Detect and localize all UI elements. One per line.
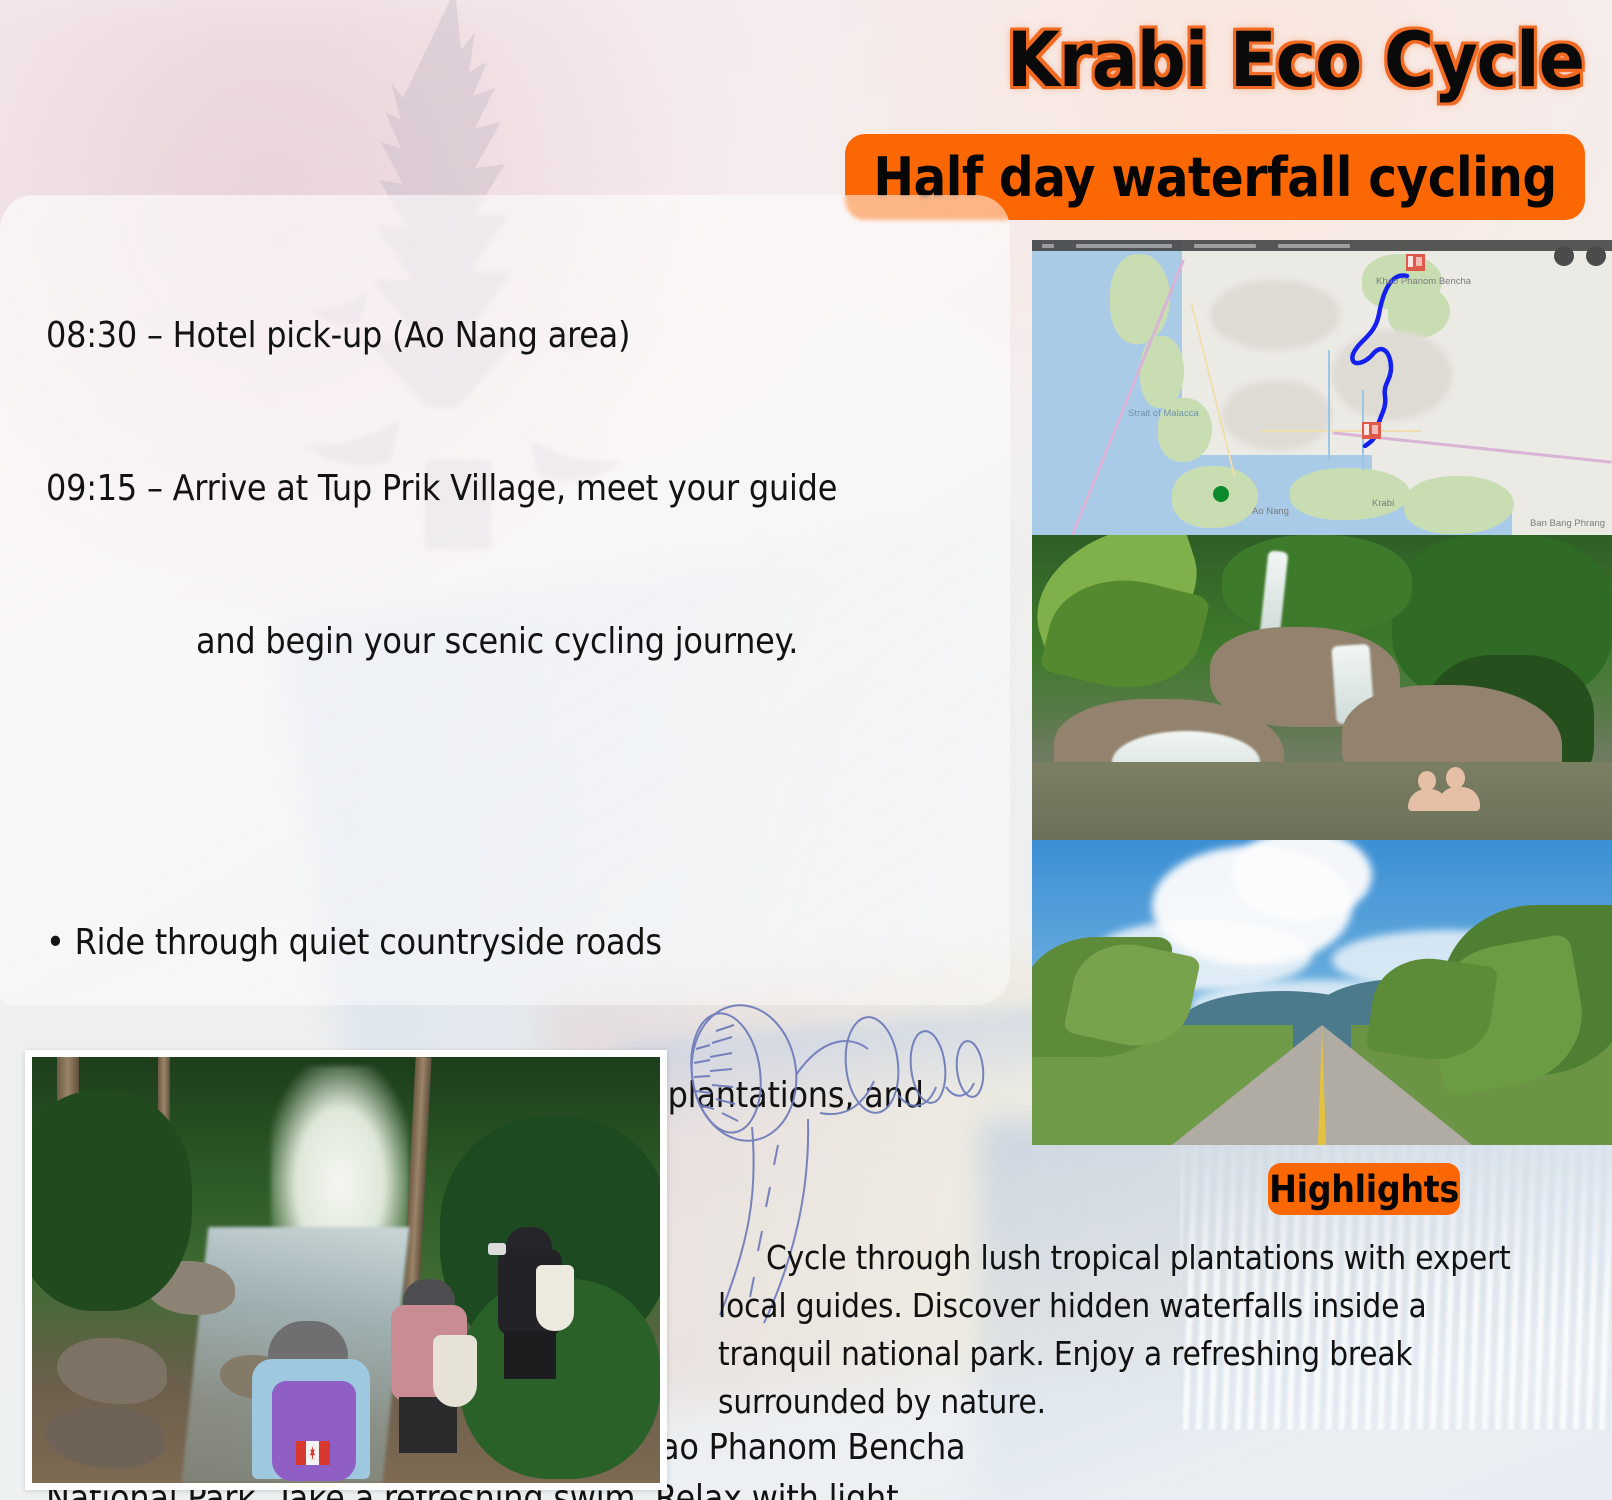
hiker-front-backpack: [272, 1381, 356, 1481]
hiker-middle-cap: [403, 1279, 455, 1307]
map-marker-end: [1406, 254, 1425, 271]
boulder-3: [45, 1406, 165, 1468]
poster-canvas: Krabi Eco Cycle Half day waterfall cycli…: [0, 0, 1612, 1500]
map-layers-button[interactable]: [1586, 246, 1606, 266]
hiker-middle-tote: [433, 1335, 477, 1407]
page-title: Krabi Eco Cycle: [1007, 18, 1584, 102]
map-stat-3: [1194, 244, 1256, 248]
map-label-sea: Strait of Malacca: [1128, 408, 1199, 419]
swimmer-body-2: [1438, 787, 1480, 811]
foliage-left-bank: [32, 1091, 192, 1311]
itinerary-bullet-1: • Ride through quiet countryside roads: [46, 917, 986, 968]
hiker-front: [246, 1321, 396, 1481]
road-image: [1032, 840, 1612, 1145]
swimmer-head-1: [1418, 771, 1436, 791]
jungle-trek-photo: [25, 1050, 667, 1490]
canada-flag-patch: [296, 1441, 330, 1465]
map-canvas: Strait of Malacca Khao Phanom Bencha Ao …: [1032, 240, 1612, 535]
map-zoom-button[interactable]: [1554, 246, 1574, 266]
hiker-middle: [377, 1279, 487, 1459]
jungle-scene: [32, 1057, 660, 1483]
map-label-ao-nang: Ao Nang: [1252, 506, 1289, 517]
waterfall-scene: [1032, 535, 1612, 840]
media-column: Strait of Malacca Khao Phanom Bencha Ao …: [1032, 240, 1612, 1145]
road-centerline: [1318, 1027, 1326, 1145]
map-stat-1: [1042, 244, 1054, 248]
highlights-badge: Highlights: [1268, 1163, 1460, 1215]
swimmer-head-2: [1446, 767, 1465, 789]
hiker-back-tote: [536, 1265, 574, 1331]
map-stat-2: [1076, 244, 1172, 248]
map-label-krabi: Krabi: [1372, 498, 1394, 509]
waterfall-pool: [1032, 762, 1612, 840]
map-start-dot: [1213, 486, 1229, 502]
itinerary-line-1: 08:30 – Hotel pick-up (Ao Nang area): [46, 310, 986, 361]
map-stat-4: [1278, 244, 1350, 248]
itinerary-line-2-cont: and begin your scenic cycling journey.: [46, 616, 986, 667]
itinerary-spacer-1: [46, 769, 986, 815]
boulder-2: [57, 1338, 167, 1404]
highlights-badge-label: Highlights: [1269, 1168, 1459, 1211]
map-marker-start: [1362, 422, 1381, 439]
foliage-top: [1222, 535, 1412, 635]
highlights-body: Cycle through lush tropical plantations …: [718, 1234, 1548, 1426]
hiker-back-phone: [488, 1243, 506, 1255]
road-scene: [1032, 840, 1612, 1145]
hiker-back: [484, 1227, 584, 1407]
map-label-park: Khao Phanom Bencha: [1376, 276, 1471, 287]
map-stats-toolbar: [1032, 240, 1612, 251]
route-map-image: Strait of Malacca Khao Phanom Bencha Ao …: [1032, 240, 1612, 535]
map-label-ban-bang-phrang: Ban Bang Phrang: [1530, 518, 1605, 529]
hiker-front-cap: [268, 1321, 348, 1363]
itinerary-line-2: 09:15 – Arrive at Tup Prik Village, meet…: [46, 463, 986, 514]
hiker-back-cap: [506, 1227, 552, 1251]
hiker-back-shorts: [504, 1331, 556, 1379]
waterfall-image: [1032, 535, 1612, 840]
